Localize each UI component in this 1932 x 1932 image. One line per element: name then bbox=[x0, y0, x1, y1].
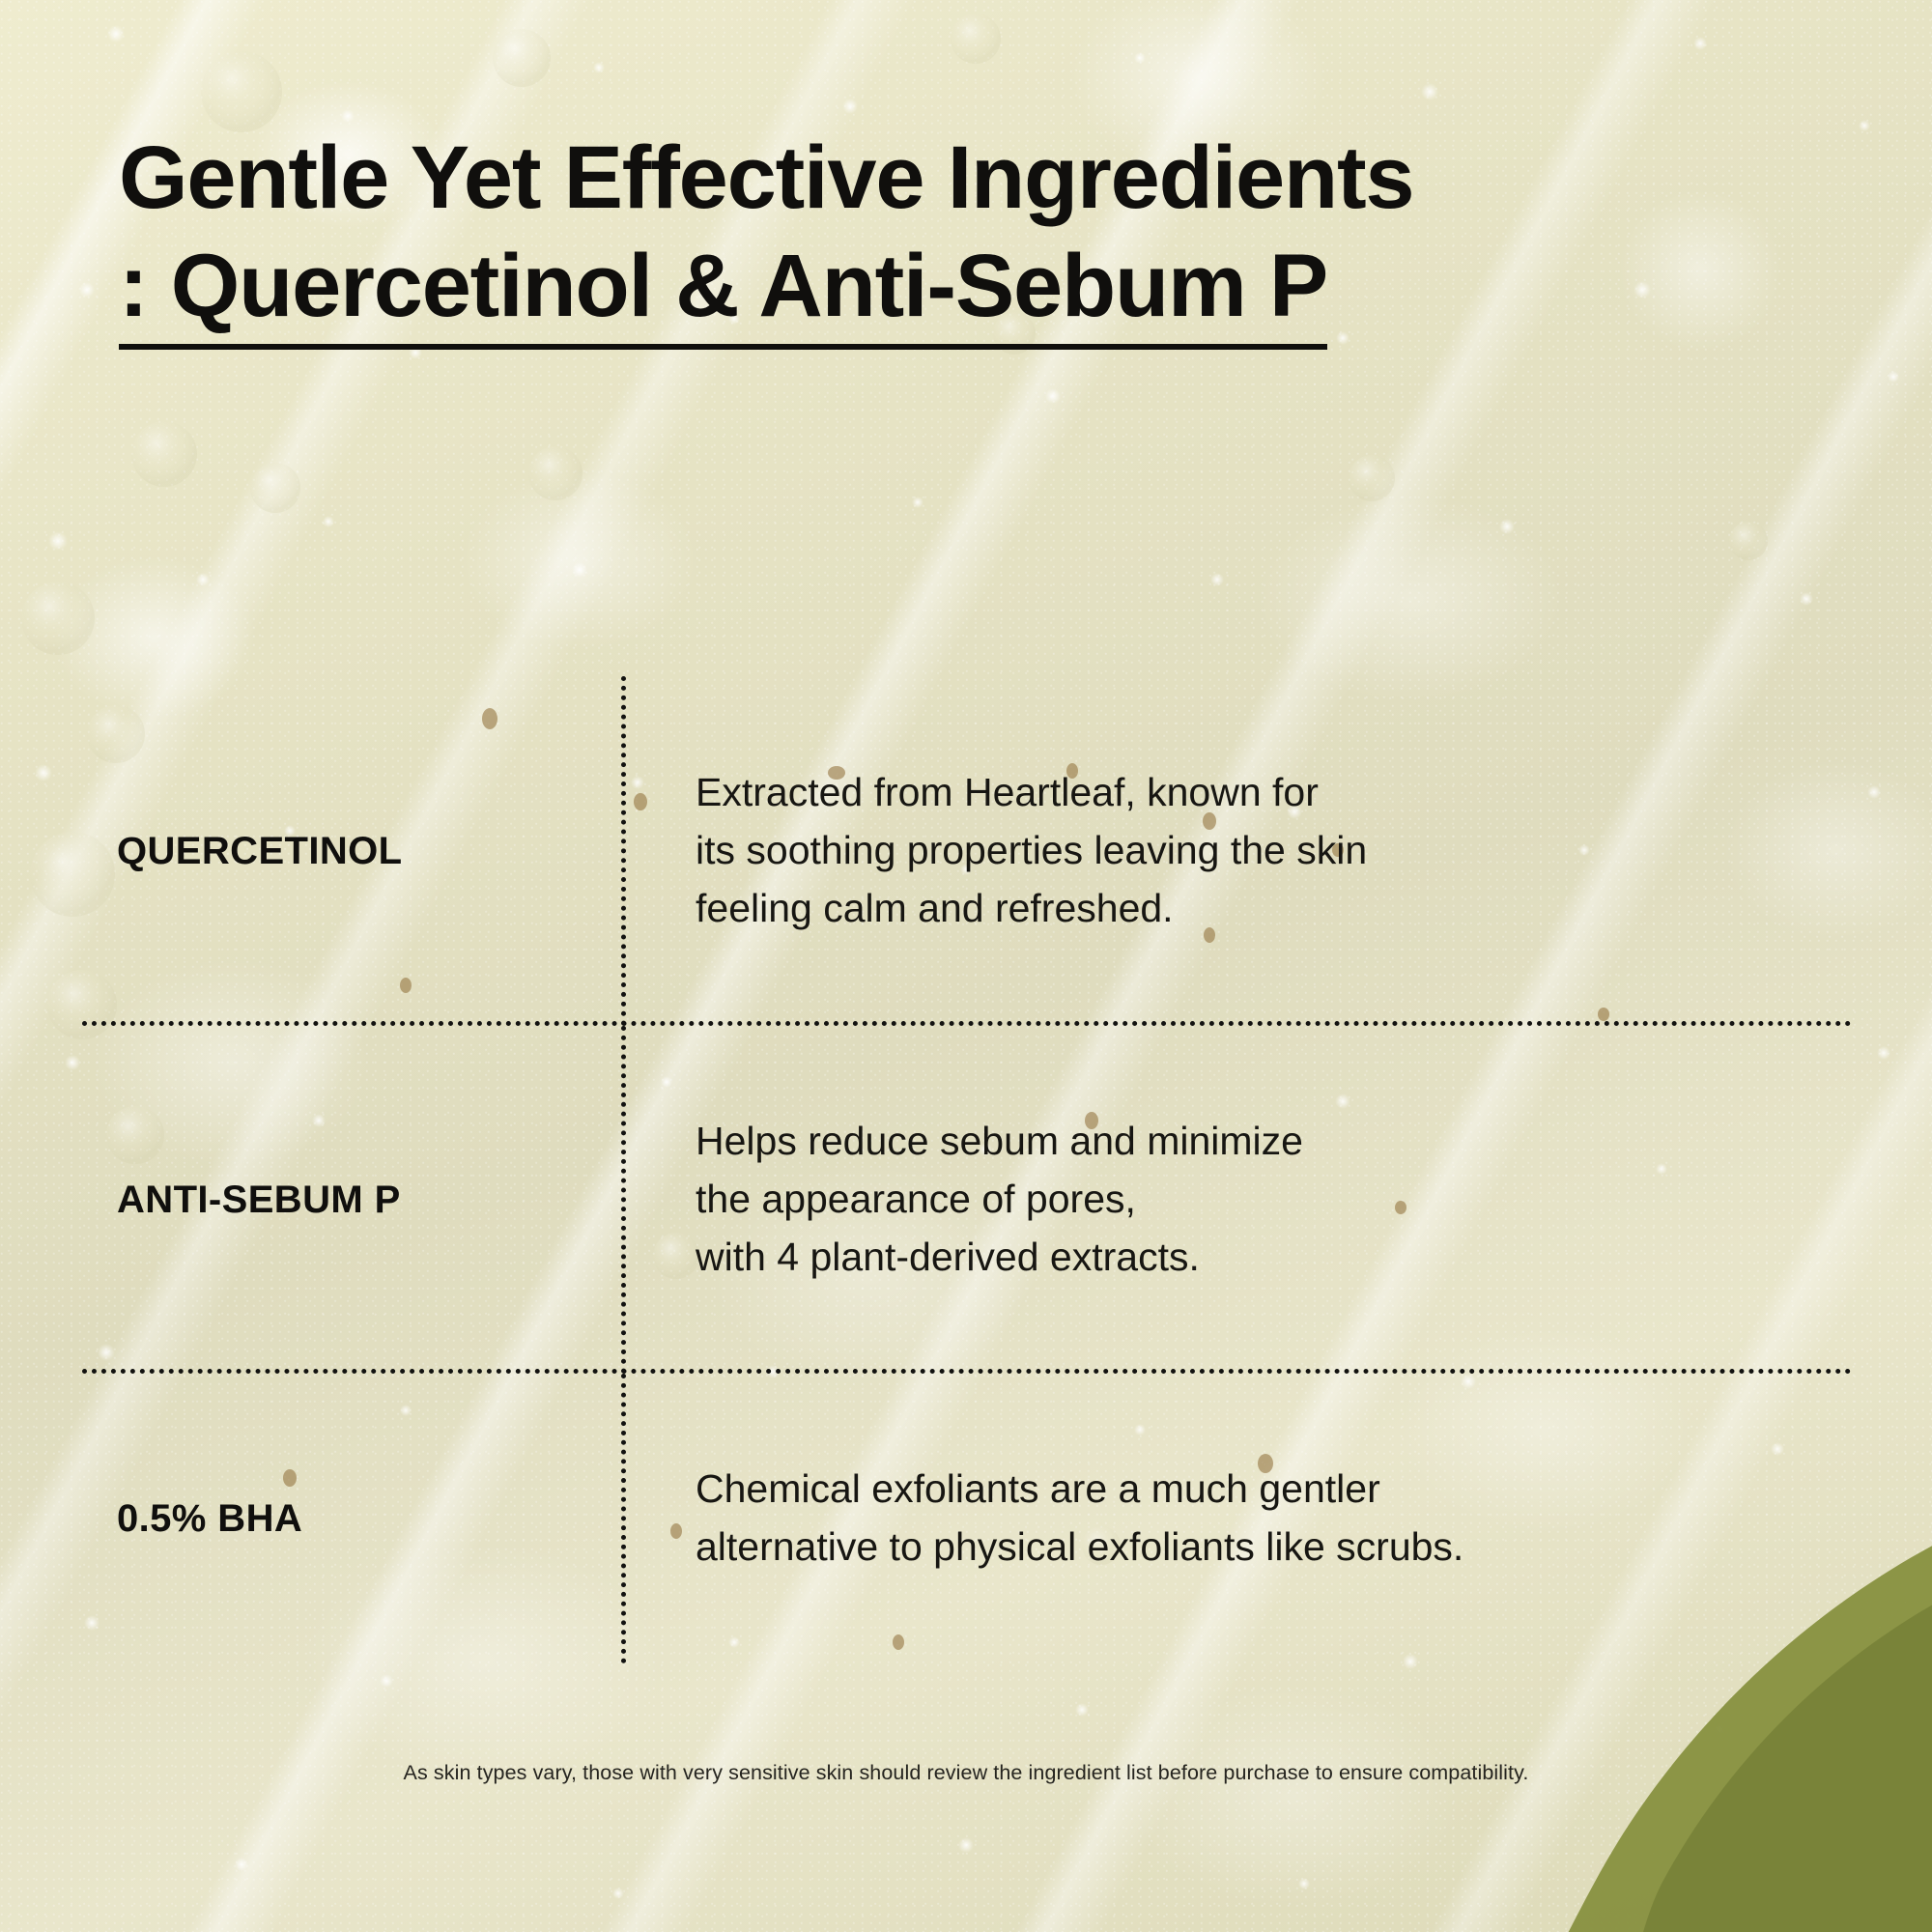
ingredient-description: Extracted from Heartleaf, known for its … bbox=[626, 764, 1852, 938]
ingredient-description: Helps reduce sebum and minimize the appe… bbox=[626, 1113, 1852, 1287]
table-row: ANTI-SEBUM P Helps reduce sebum and mini… bbox=[82, 1026, 1852, 1374]
ingredient-name: ANTI-SEBUM P bbox=[82, 1179, 621, 1222]
title-line-1: Gentle Yet Effective Ingredients bbox=[119, 124, 1819, 232]
ingredient-name: 0.5% BHA bbox=[82, 1497, 621, 1541]
ingredient-name: QUERCETINOL bbox=[82, 830, 621, 873]
table-row: 0.5% BHA Chemical exfoliants are a much … bbox=[82, 1374, 1852, 1663]
ingredient-table: QUERCETINOL Extracted from Heartleaf, kn… bbox=[82, 676, 1852, 1663]
disclaimer-footnote: As skin types vary, those with very sens… bbox=[0, 1761, 1932, 1785]
ingredient-description-text: Extracted from Heartleaf, known for its … bbox=[696, 764, 1852, 938]
ingredient-description-text: Chemical exfoliants are a much gentler a… bbox=[696, 1461, 1852, 1577]
ingredient-info-graphic: Gentle Yet Effective Ingredients : Querc… bbox=[0, 0, 1932, 1932]
ingredient-description: Chemical exfoliants are a much gentler a… bbox=[626, 1461, 1852, 1577]
table-row: QUERCETINOL Extracted from Heartleaf, kn… bbox=[82, 676, 1852, 1026]
ingredient-description-text: Helps reduce sebum and minimize the appe… bbox=[696, 1113, 1852, 1287]
page-title: Gentle Yet Effective Ingredients : Querc… bbox=[119, 124, 1819, 350]
title-line-2: : Quercetinol & Anti-Sebum P bbox=[119, 232, 1327, 350]
